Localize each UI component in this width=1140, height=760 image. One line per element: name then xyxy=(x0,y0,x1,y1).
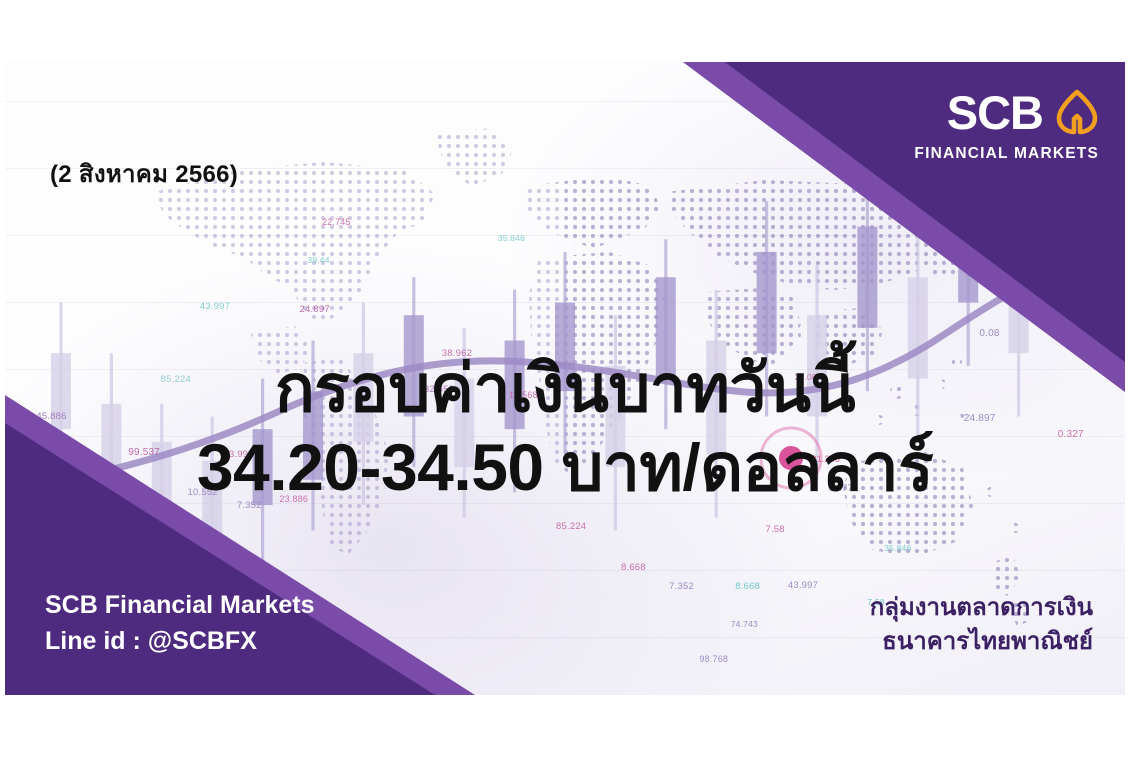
poster-page: 22.74543.99724.89738.96232.65818.56885.2… xyxy=(0,0,1140,760)
headline-line-2: 34.20-34.50 บาท/ดอลลาร์ xyxy=(5,429,1125,507)
chart-value-label: 74.743 xyxy=(731,619,758,629)
footer-department-line-1: กลุ่มงานตลาดการเงิน xyxy=(870,591,1093,625)
scb-logo: SCB FINANCIAL MARKETS xyxy=(914,88,1101,163)
chart-value-label: 7.58 xyxy=(765,524,784,535)
footer-bank-name: ธนาคารไทยพาณิชย์ xyxy=(870,625,1093,659)
chart-value-label: 7.352 xyxy=(669,581,694,592)
chart-value-label: 8.668 xyxy=(735,581,760,592)
footer-contact: SCB Financial Markets Line id : @SCBFX xyxy=(45,588,315,659)
logo-tagline: FINANCIAL MARKETS xyxy=(914,145,1101,163)
footer-department: กลุ่มงานตลาดการเงิน ธนาคารไทยพาณิชย์ xyxy=(870,591,1093,659)
chart-value-label: 98.768 xyxy=(699,654,728,664)
chart-value-label: 22.745 xyxy=(322,217,351,227)
chart-value-label: 43.997 xyxy=(788,580,818,591)
banner-artwork: 22.74543.99724.89738.96232.65818.56885.2… xyxy=(5,62,1125,695)
chart-value-label: 35.846 xyxy=(498,233,525,243)
chart-value-label: 85.224 xyxy=(556,521,586,532)
chart-value-label: 43.997 xyxy=(200,301,230,312)
logo-wordmark: SCB xyxy=(947,89,1043,136)
chart-value-label: 35.846 xyxy=(884,543,911,553)
headline-line-1: กรอบค่าเงินบาทวันนี้ xyxy=(5,354,1125,423)
scb-leaf-emblem-icon xyxy=(1053,88,1101,136)
footer-line-id[interactable]: Line id : @SCBFX xyxy=(45,624,315,660)
page-title: กรอบค่าเงินบาทวันนี้ 34.20-34.50 บาท/ดอล… xyxy=(5,354,1125,507)
chart-value-label: 8.668 xyxy=(621,562,646,573)
chart-value-label: 39.44 xyxy=(307,255,329,265)
footer-company-name: SCB Financial Markets xyxy=(45,588,315,624)
logo-row: SCB xyxy=(914,88,1101,136)
chart-value-label: 24.897 xyxy=(300,304,330,315)
date-label: (2 สิงหาคม 2566) xyxy=(50,154,238,193)
